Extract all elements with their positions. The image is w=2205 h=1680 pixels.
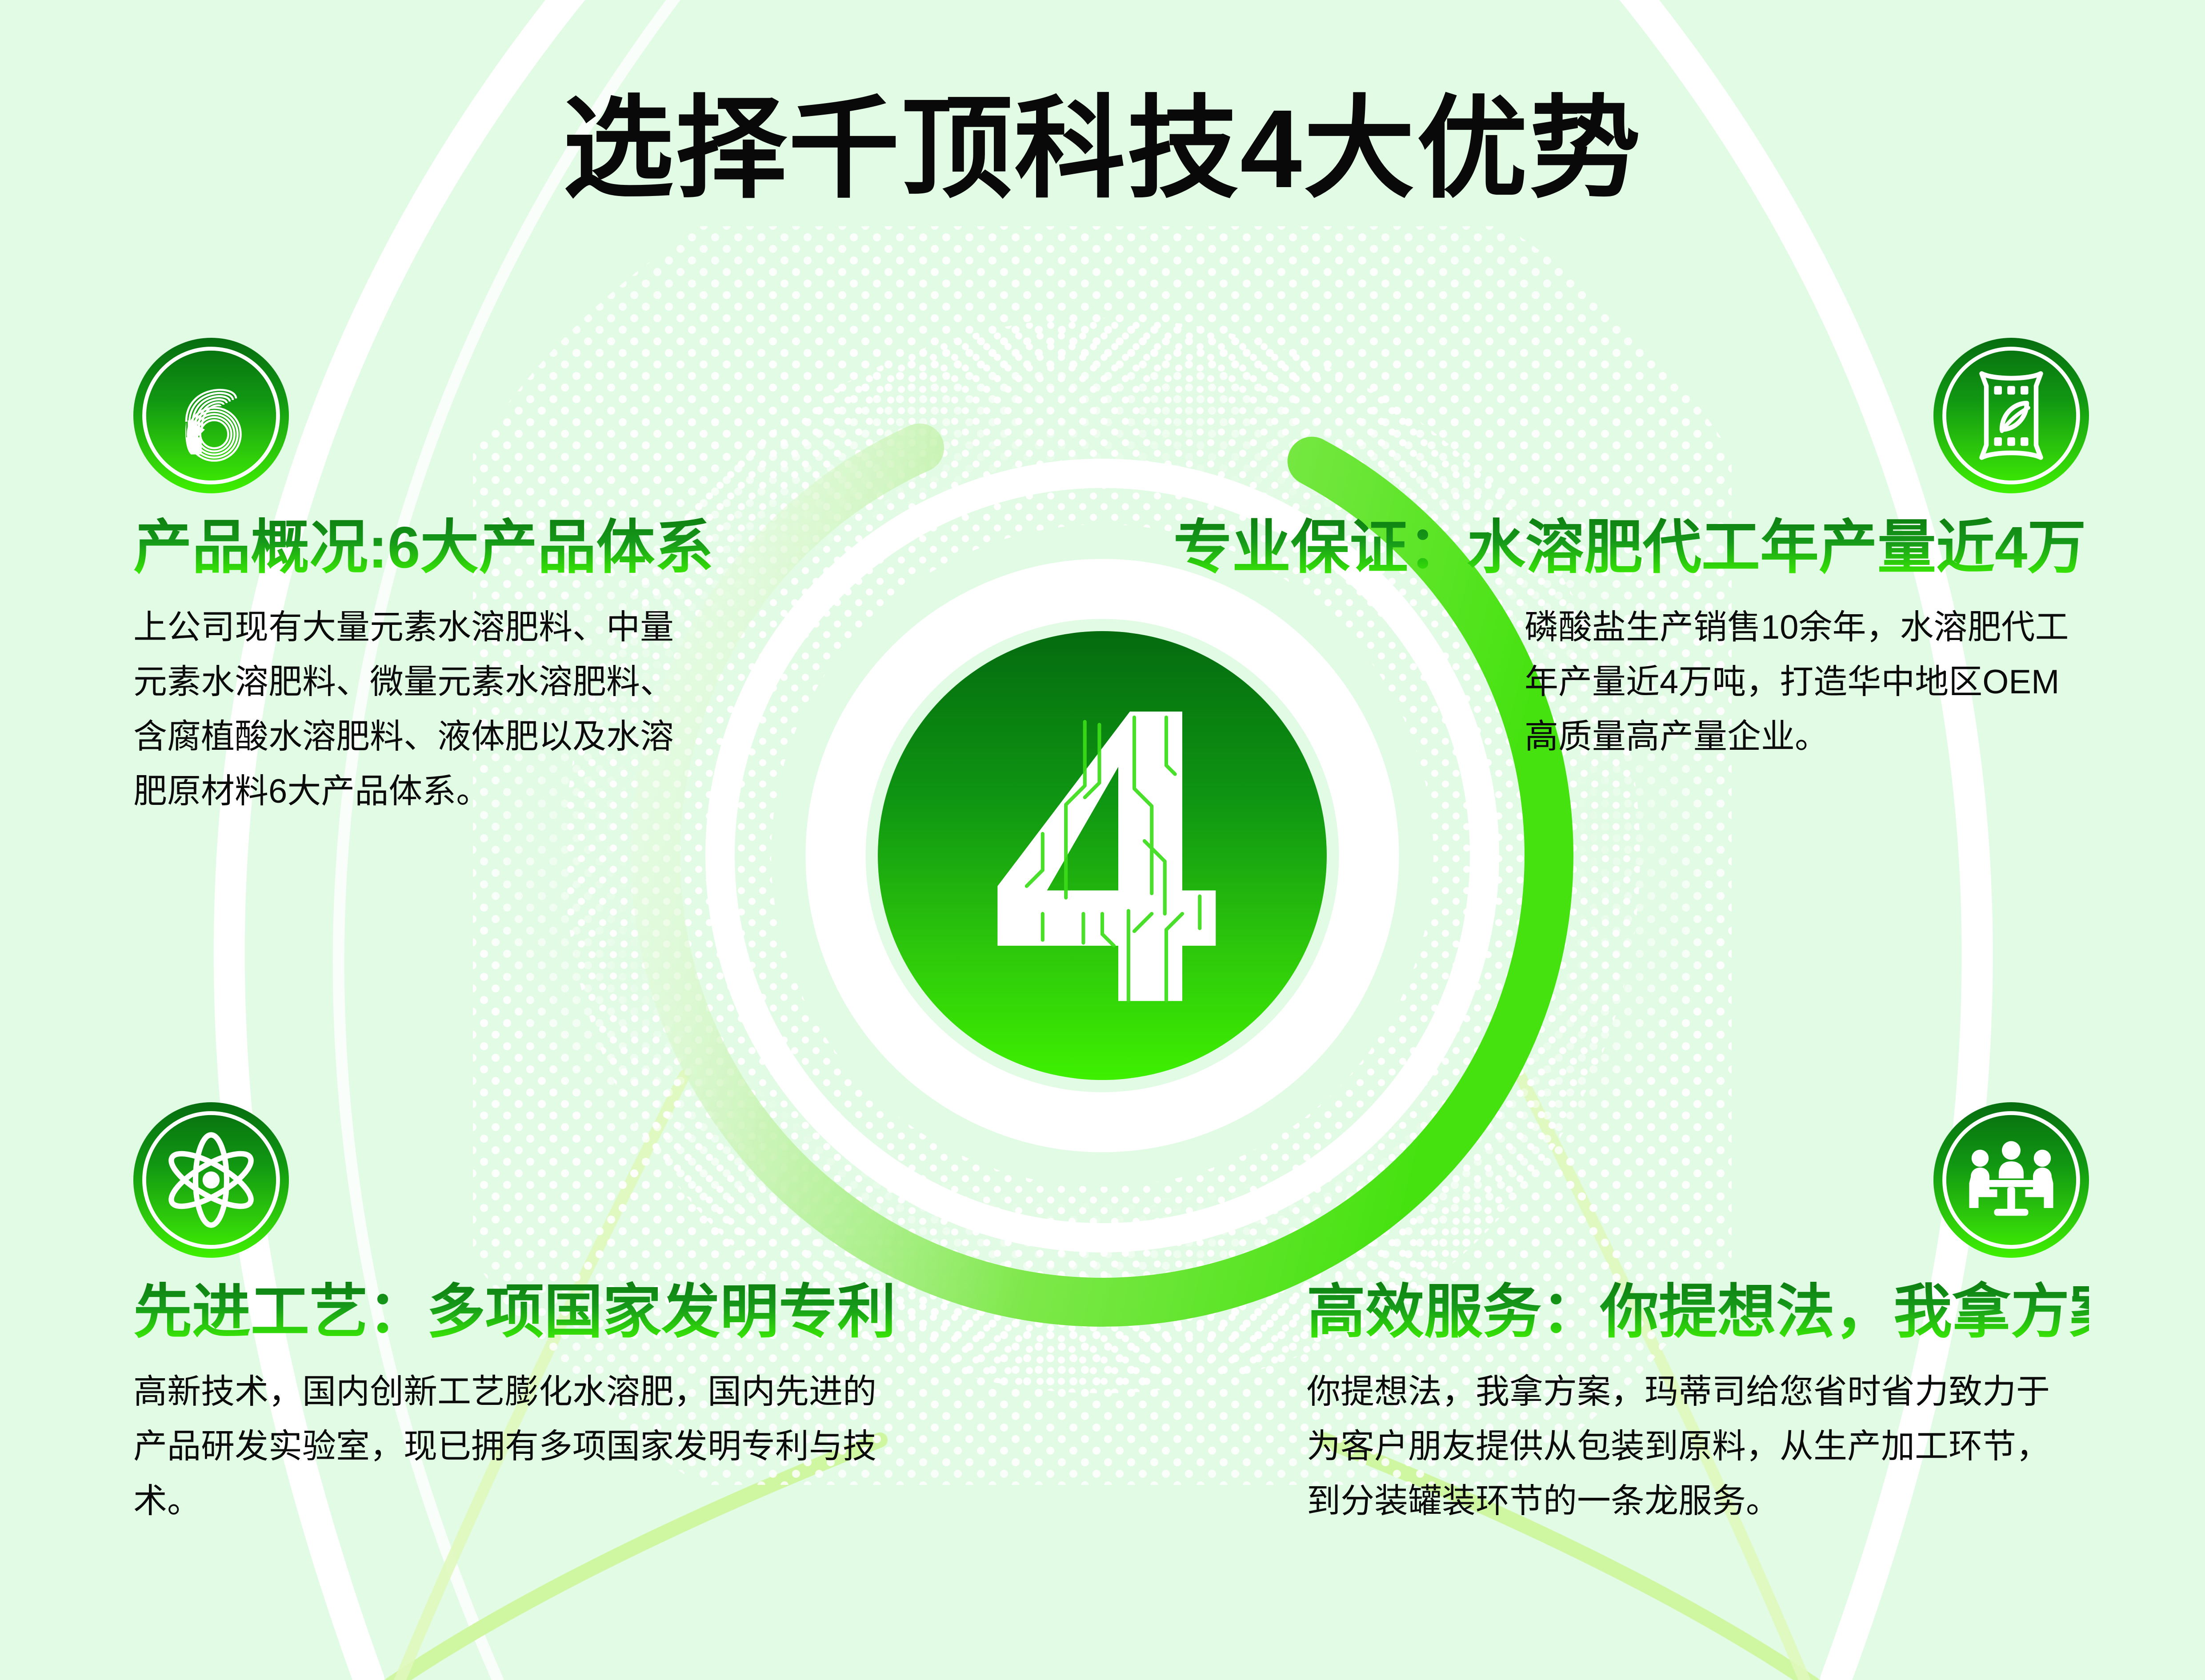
infographic-canvas: 选择千顶科技4大优势 bbox=[0, 0, 2205, 1680]
fertilizer-bag-icon bbox=[1933, 338, 2089, 493]
meeting-team-icon bbox=[1933, 1102, 2089, 1258]
page-title: 选择千顶科技4大优势 bbox=[0, 93, 2205, 204]
atom-icon bbox=[133, 1102, 289, 1258]
meeting-team-glyph bbox=[1933, 1102, 2089, 1258]
feature-block-advanced-process: 先进工艺：多项国家发明专利 高新技术，国内创新工艺膨化水溶肥，国内先进的产品研发… bbox=[133, 1102, 916, 1528]
feature-block-professional-guarantee: 专业保证：水溶肥代工年产量近4万吨 磷酸盐生产销售10余年，水溶肥代工年产量近4… bbox=[1173, 338, 2089, 764]
feature-heading: 高效服务：你提想法，我拿方案 bbox=[1307, 1279, 2089, 1345]
feature-block-product-overview: 产品概况:6大产品体系 上公司现有大量元素水溶肥料、中量元素水溶肥料、微量元素水… bbox=[133, 338, 720, 819]
feature-block-efficient-service: 高效服务：你提想法，我拿方案 你提想法，我拿方案，玛蒂司给您省时省力致力于为客户… bbox=[1307, 1102, 2089, 1528]
number-six-spiral-icon bbox=[133, 338, 289, 493]
feature-heading: 先进工艺：多项国家发明专利 bbox=[133, 1279, 916, 1345]
number-six-spiral-glyph bbox=[133, 338, 289, 493]
feature-body: 高新技术，国内创新工艺膨化水溶肥，国内先进的产品研发实验室，现已拥有多项国家发明… bbox=[133, 1364, 884, 1528]
atom-glyph bbox=[133, 1102, 289, 1258]
feature-body: 你提想法，我拿方案，玛蒂司给您省时省力致力于为客户朋友提供从包装到原料，从生产加… bbox=[1307, 1364, 2058, 1528]
feature-body: 磷酸盐生产销售10余年，水溶肥代工年产量近4万吨，打造华中地区OEM高质量高产量… bbox=[1525, 600, 2089, 764]
fertilizer-bag-glyph bbox=[1933, 338, 2089, 493]
feature-heading: 产品概况:6大产品体系 bbox=[133, 515, 720, 580]
feature-body: 上公司现有大量元素水溶肥料、中量元素水溶肥料、微量元素水溶肥料、含腐植酸水溶肥料… bbox=[133, 600, 691, 819]
feature-heading: 专业保证：水溶肥代工年产量近4万吨 bbox=[1173, 515, 2089, 580]
